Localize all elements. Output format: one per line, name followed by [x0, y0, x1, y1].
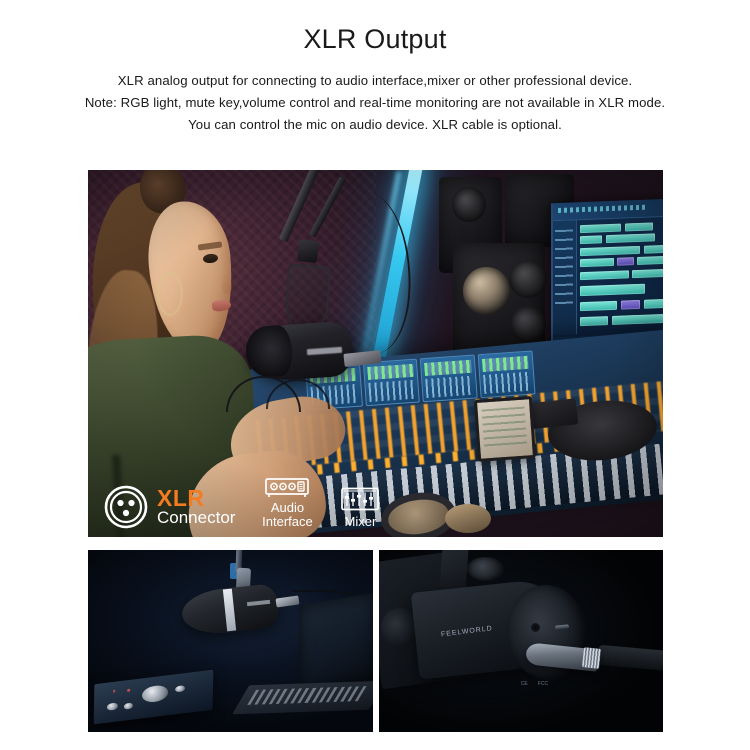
- description-line-2: Note: RGB light, mute key,volume control…: [0, 92, 750, 114]
- audio-interface-label: Audio Interface: [262, 501, 313, 529]
- xlr-badge-text: XLR Connector: [157, 488, 235, 527]
- laptop-screen: [299, 592, 373, 693]
- audio-interface-label-line2: Interface: [262, 514, 313, 529]
- image-gallery: XLR Connector: [88, 170, 663, 732]
- mixer-badge: Mixer: [339, 486, 381, 529]
- tension-knob: [467, 557, 504, 581]
- thumbnail-mic-rear-ports: FEELWORLD CE FCC: [379, 550, 664, 732]
- audio-interface-badge: Audio Interface: [261, 476, 313, 529]
- xlr-badge-title: XLR: [157, 488, 235, 508]
- hero-image: XLR Connector: [88, 170, 663, 537]
- thumbnail-mic-desk-setup: [88, 550, 373, 732]
- audio-interface-label-line1: Audio: [271, 500, 304, 515]
- xlr-connector-icon: [104, 485, 148, 529]
- ce-mark: CE: [521, 681, 528, 687]
- description-line-3: You can control the mic on audio device.…: [0, 114, 750, 136]
- mixer-icon: [339, 486, 381, 513]
- audio-interface-icon: [261, 476, 313, 499]
- product-detail-page: XLR Output XLR analog output for connect…: [0, 0, 750, 750]
- headphone-jack-icon: [531, 623, 540, 632]
- page-title: XLR Output: [0, 0, 750, 56]
- connection-badges: XLR Connector: [104, 476, 381, 529]
- xlr-badge-subtitle: Connector: [157, 508, 235, 527]
- xlr-connector-badge: XLR Connector: [104, 485, 235, 529]
- thumbnail-row: FEELWORLD CE FCC: [88, 550, 663, 732]
- fcc-mark: FCC: [538, 681, 548, 687]
- description-block: XLR analog output for connecting to audi…: [0, 70, 750, 136]
- mixer-label: Mixer: [345, 515, 377, 529]
- description-line-1: XLR analog output for connecting to audi…: [0, 70, 750, 92]
- xlr-plug-collar: [582, 647, 601, 669]
